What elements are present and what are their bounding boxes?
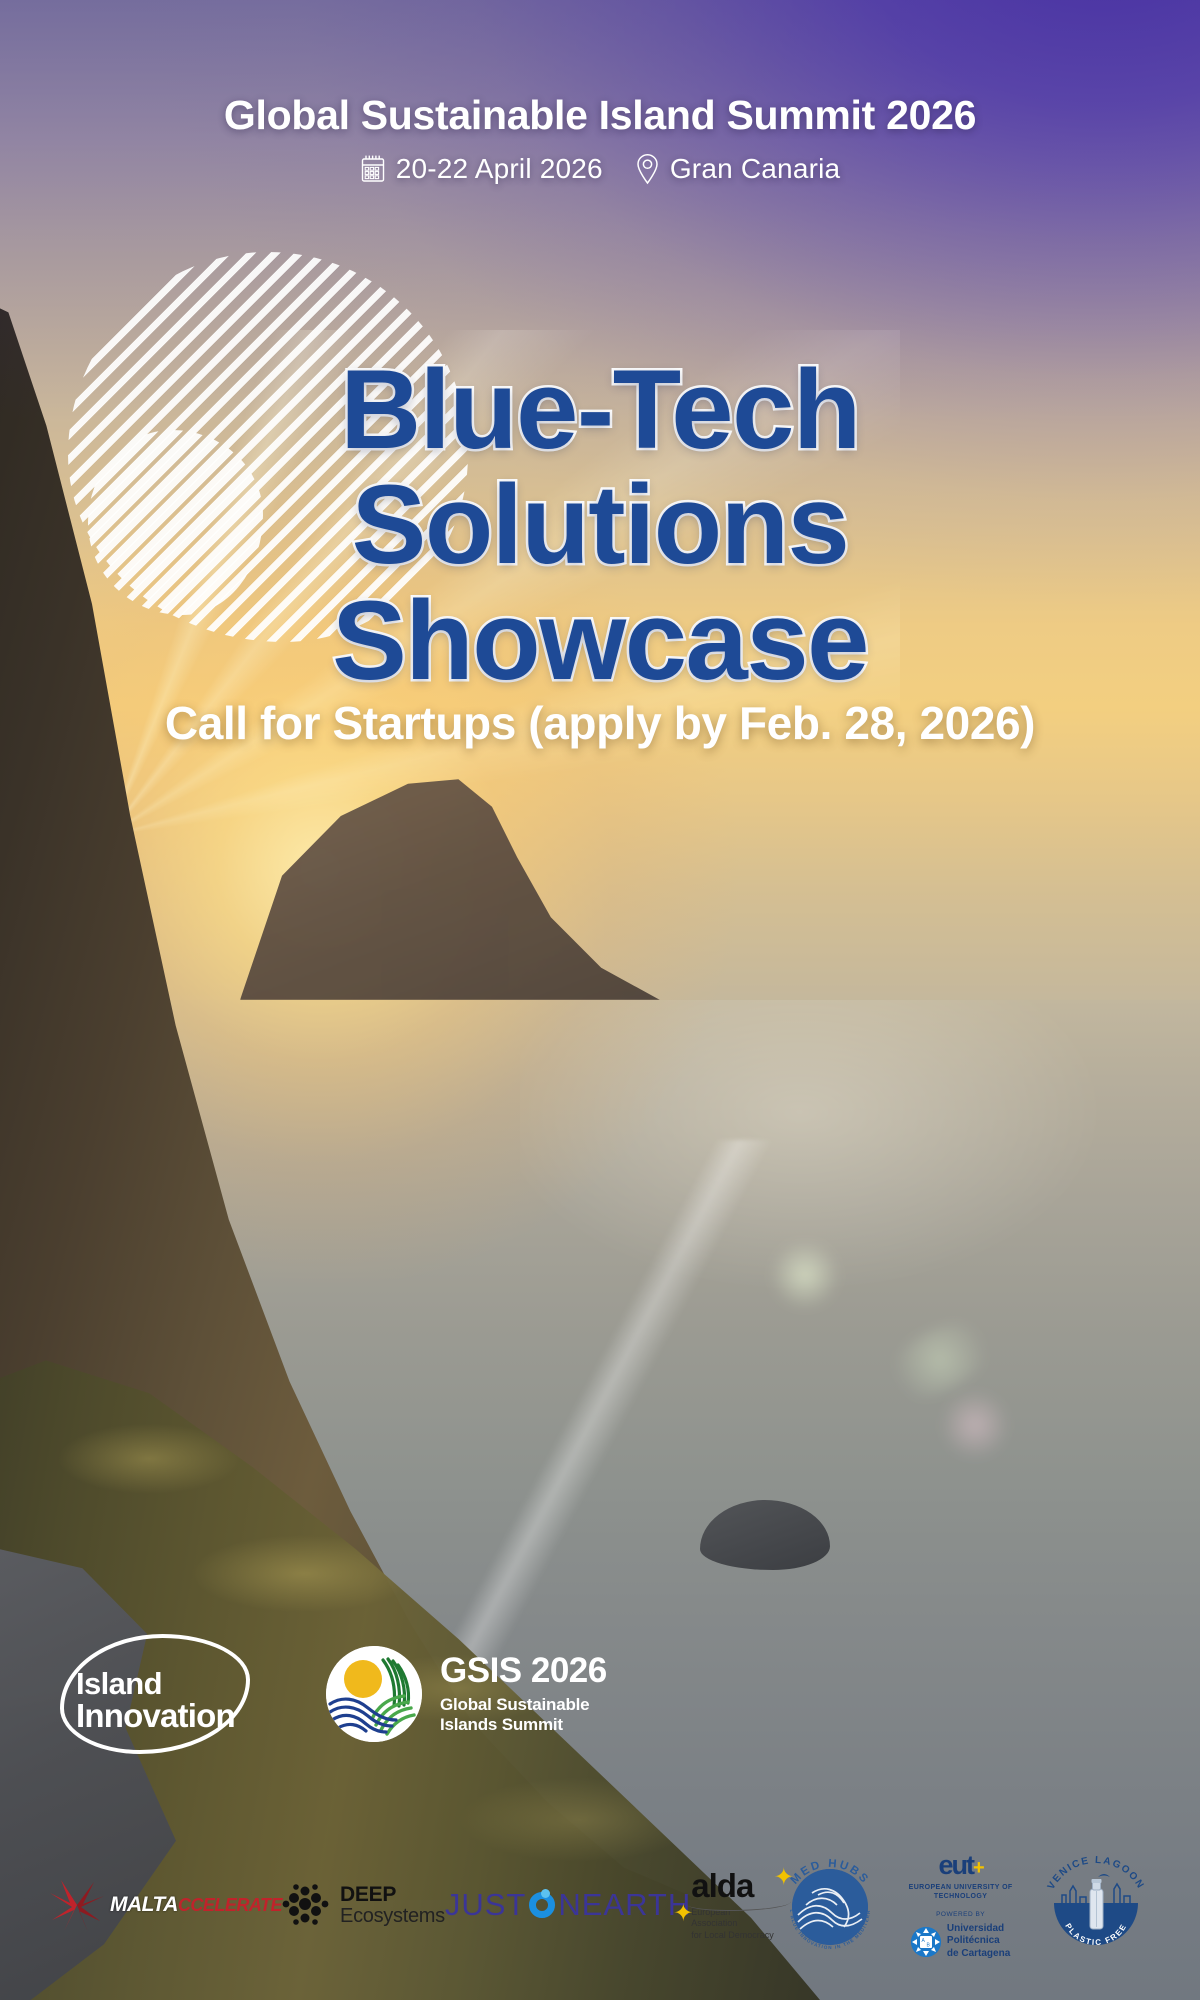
eut-plus-logo: eut+ EUROPEAN UNIVERSITY OF TECHNOLOGY P… — [881, 1850, 1040, 1961]
map-pin-icon — [635, 153, 660, 185]
poster-canvas: Global Sustainable Island Summit 2026 — [0, 0, 1200, 2000]
gsis-logo: GSIS 2026 Global Sustainable Islands Sum… — [326, 1646, 607, 1742]
blue-wave-circle-icon — [792, 1869, 868, 1945]
venice-lagoon-plastic-free-logo: VENICE LAGOON — [1040, 1853, 1152, 1957]
malta-accelerate-logo: MALTACCELERATE — [48, 1876, 282, 1934]
hero-line-1: Blue-Tech — [0, 352, 1200, 467]
gsis-emblem-icon — [326, 1646, 422, 1742]
eut-powered-by-label: POWERED BY — [936, 1911, 985, 1918]
dot-cluster-icon — [282, 1882, 330, 1928]
logo-lockup: Island Innovation — [60, 1634, 607, 1754]
med-hubs-logo: MED HUBS DIGITAL BLUE INNOVATION IN THE … — [778, 1853, 881, 1957]
hero-title: Blue-Tech Solutions Showcase — [0, 352, 1200, 698]
eut-plus-sign: + — [973, 1857, 983, 1879]
malta-word: MALTA — [110, 1893, 178, 1916]
event-location-label: Gran Canaria — [670, 153, 840, 185]
event-meta-row: 20-22 April 2026 Gran Canaria — [0, 153, 1200, 185]
just-one-earth-logo: JUST NEARTH — [445, 1887, 691, 1923]
island-innovation-wordmark: Island Innovation — [76, 1668, 235, 1732]
malta-accelerate-wordmark: MALTACCELERATE — [110, 1893, 282, 1917]
hero-line-2: Solutions — [0, 467, 1200, 582]
upct-crest-icon: AB — [911, 1927, 941, 1957]
event-date-label: 20-22 April 2026 — [396, 153, 603, 185]
upct-wordmark: Universidad Politécnica de Cartagena — [947, 1923, 1010, 1961]
island-innovation-logo: Island Innovation — [60, 1634, 250, 1754]
blue-ring-icon — [529, 1892, 555, 1918]
gsis-sub-line-1: Global Sustainable — [440, 1695, 607, 1715]
eut-mark-text: eut — [939, 1850, 974, 1880]
upct-line-3: de Cartagena — [947, 1948, 1010, 1961]
just-one-earth-text-right: NEARTH — [558, 1887, 691, 1923]
just-one-earth-text-left: JUST — [445, 1887, 527, 1923]
island-innovation-line-1: Island — [76, 1668, 235, 1699]
gsis-title: GSIS 2026 — [440, 1653, 607, 1690]
gsis-wordmark: GSIS 2026 Global Sustainable Islands Sum… — [440, 1653, 607, 1735]
upct-line-2: Politécnica — [947, 1935, 1010, 1948]
accelerate-word: CCELERATE — [178, 1895, 282, 1915]
hero-subtitle: Call for Startups (apply by Feb. 28, 202… — [0, 696, 1200, 750]
maltese-star-icon — [48, 1876, 106, 1934]
event-date: 20-22 April 2026 — [360, 153, 603, 185]
event-title: Global Sustainable Island Summit 2026 — [0, 92, 1200, 139]
calendar-icon — [360, 154, 386, 184]
event-location: Gran Canaria — [635, 153, 840, 185]
venice-lagoon-emblem: VENICE LAGOON — [1040, 1853, 1152, 1957]
poster-header: Global Sustainable Island Summit 2026 — [0, 92, 1200, 185]
deep-line-2: Ecosystems — [340, 1906, 445, 1926]
alda-sub-line-2: for Local Democracy — [691, 1930, 778, 1941]
hero-line-3: Showcase — [0, 583, 1200, 698]
deep-ecosystems-wordmark: DEEP Ecosystems — [340, 1884, 445, 1926]
upct-lockup: AB Universidad Politécnica de Cartagena — [911, 1923, 1010, 1961]
upct-line-1: Universidad — [947, 1923, 1010, 1936]
deep-ecosystems-logo: DEEP Ecosystems — [282, 1882, 445, 1928]
deep-line-1: DEEP — [340, 1884, 445, 1905]
alda-logo: ✦ ✦ alda European Association for Local … — [691, 1869, 778, 1941]
island-innovation-line-2: Innovation — [76, 1699, 235, 1732]
partner-logo-strip: MALTACCELERATE DEEP — [0, 1840, 1200, 1970]
eut-mark: eut+ — [939, 1850, 983, 1881]
eut-subtitle: EUROPEAN UNIVERSITY OF TECHNOLOGY — [881, 1883, 1040, 1901]
plastic-bottle-icon — [1090, 1879, 1103, 1929]
gsis-sub-line-2: Islands Summit — [440, 1715, 607, 1735]
